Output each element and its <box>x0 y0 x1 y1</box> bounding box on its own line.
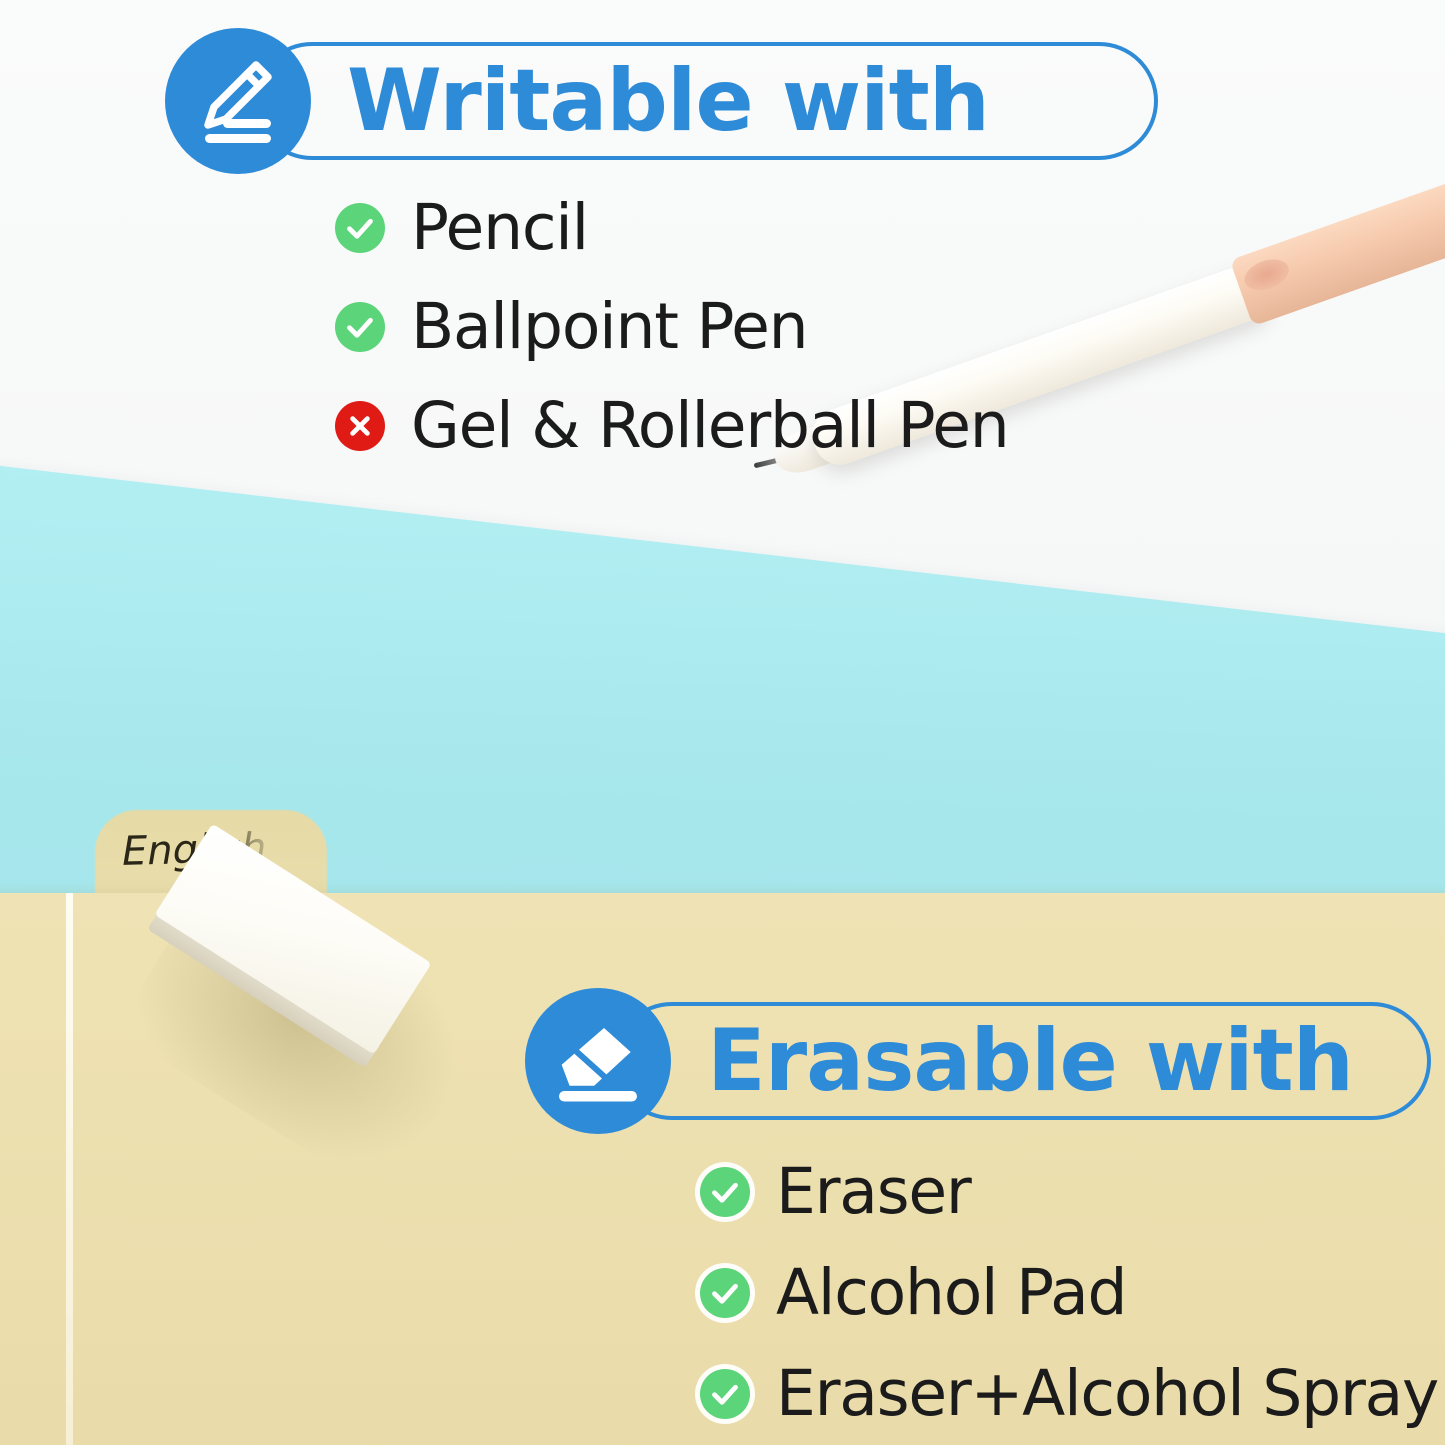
checklist-item-label: Ballpoint Pen <box>411 295 807 358</box>
checklist-item-label: Gel & Rollerball Pen <box>411 394 1008 457</box>
checklist-item-label: Eraser <box>776 1160 971 1223</box>
check-circle-icon <box>700 1268 750 1318</box>
check-circle-icon <box>335 302 385 352</box>
pen-clip-section <box>1230 160 1445 326</box>
eraser-icon <box>525 988 671 1134</box>
pencil-writing-icon <box>165 28 311 174</box>
erasable-badge-title: Erasable with <box>707 1018 1353 1104</box>
writable-list: PencilBallpoint PenGel & Rollerball Pen <box>335 196 1008 457</box>
checklist-item: Eraser <box>700 1160 1438 1223</box>
check-circle-icon <box>335 203 385 253</box>
writable-badge: Writable with <box>165 28 995 174</box>
checklist-item: Alcohol Pad <box>700 1261 1438 1324</box>
checklist-item-label: Alcohol Pad <box>776 1261 1126 1324</box>
checklist-item: Gel & Rollerball Pen <box>335 394 1008 457</box>
check-circle-icon <box>700 1369 750 1419</box>
product-infographic: ListeningSpeakingReadingWritingMathGeolo… <box>0 0 1445 1445</box>
cross-circle-icon <box>335 401 385 451</box>
erasable-badge: Erasable with <box>525 988 1355 1134</box>
checklist-item-label: Eraser+Alcohol Spray <box>776 1362 1438 1425</box>
checklist-item: Ballpoint Pen <box>335 295 1008 358</box>
erasable-list: EraserAlcohol PadEraser+Alcohol Spray <box>700 1160 1438 1425</box>
writable-badge-title: Writable with <box>347 58 989 144</box>
checklist-item: Pencil <box>335 196 1008 259</box>
checklist-item: Eraser+Alcohol Spray <box>700 1362 1438 1425</box>
cream-sheet-edge <box>66 893 73 1445</box>
checklist-item-label: Pencil <box>411 196 588 259</box>
check-circle-icon <box>700 1167 750 1217</box>
